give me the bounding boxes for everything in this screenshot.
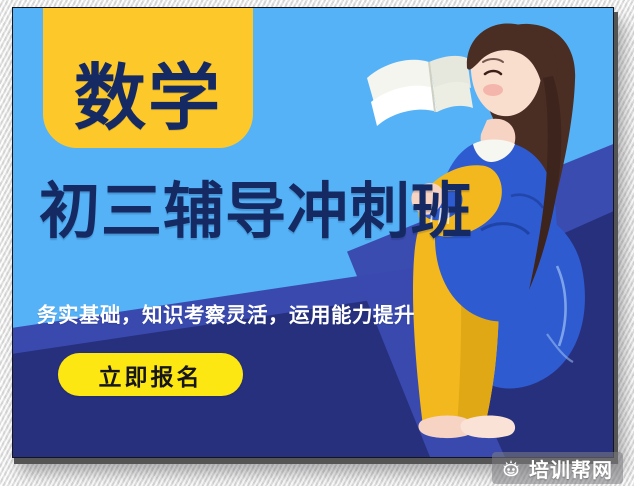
subject-badge-label: 数学	[74, 62, 222, 134]
watermark-text: 培训帮网	[529, 454, 613, 483]
watermark: 培训帮网	[492, 452, 623, 484]
poster-subtitle: 务实基础，知识考察灵活，运用能力提升	[37, 303, 415, 328]
enroll-now-button[interactable]: 立即报名	[58, 353, 243, 396]
subject-badge: 数学	[43, 7, 253, 148]
page-title: 初三辅导冲刺班	[39, 180, 473, 244]
enroll-now-button-label: 立即报名	[99, 358, 203, 392]
page-background: 数学	[0, 0, 634, 486]
sun-face-icon	[500, 457, 522, 479]
course-poster: 数学	[12, 7, 614, 458]
